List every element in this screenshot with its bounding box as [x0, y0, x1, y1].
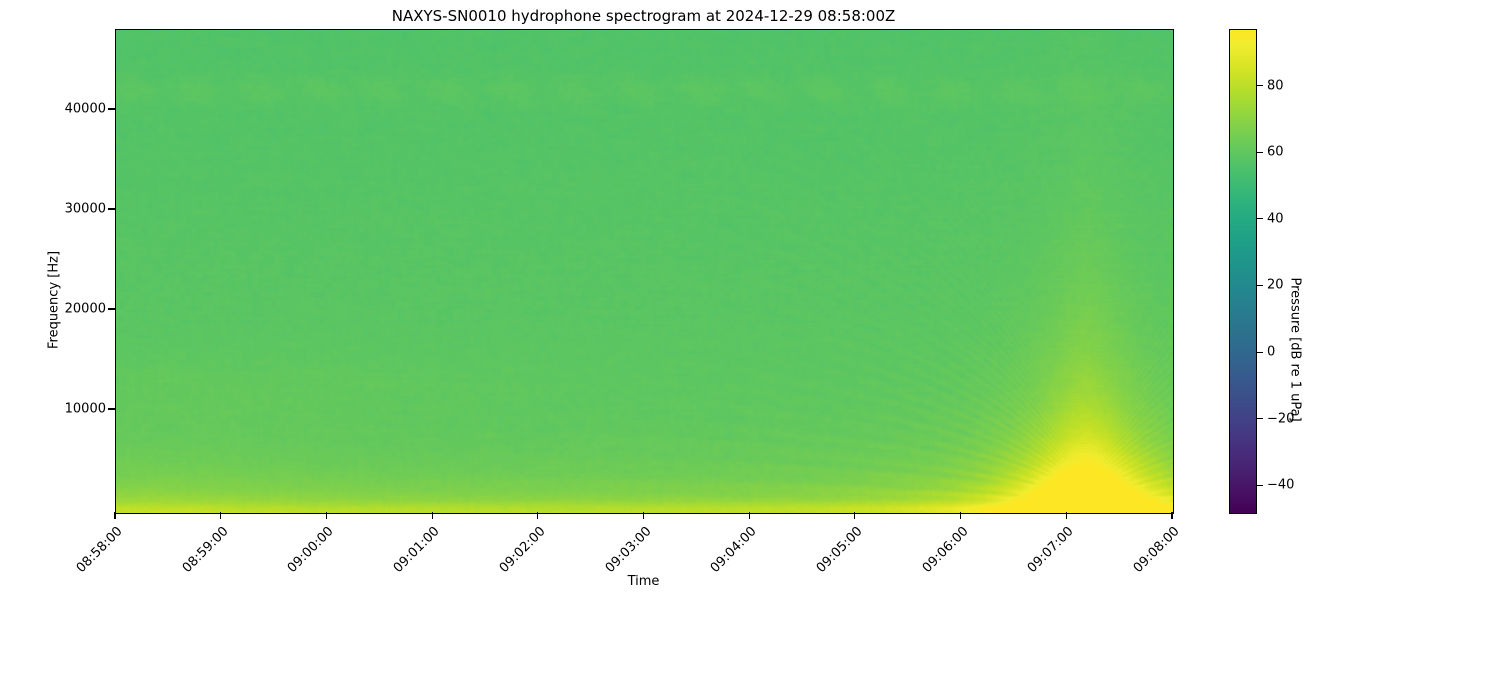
colorbar-tick-mark: [1257, 485, 1263, 486]
spectrogram-plot-area: [115, 29, 1174, 514]
x-axis-tick-mark: [537, 512, 538, 519]
x-axis-tick-mark: [854, 512, 855, 519]
colorbar-tick-mark: [1257, 218, 1263, 219]
y-axis-tick-label: 30000: [65, 202, 106, 217]
y-axis-tick-mark: [108, 108, 115, 109]
colorbar-label: Pressure [dB re 1 uPa]: [1288, 278, 1303, 422]
x-axis-tick-mark: [643, 512, 644, 519]
colorbar-tick-mark: [1257, 85, 1263, 86]
x-axis-label: Time: [115, 574, 1172, 589]
x-axis-tick-mark: [749, 512, 750, 519]
y-axis-tick-mark: [108, 308, 115, 309]
y-axis-tick-mark: [108, 408, 115, 409]
x-axis-tick-mark: [114, 512, 115, 519]
colorbar-tick-label: −40: [1267, 478, 1294, 493]
y-axis-tick-mark: [108, 208, 115, 209]
x-axis-tick-mark: [1066, 512, 1067, 519]
y-axis-label: Frequency [Hz]: [47, 251, 62, 349]
colorbar: [1229, 29, 1257, 514]
colorbar-tick-label: 60: [1267, 145, 1284, 160]
colorbar-tick-mark: [1257, 352, 1263, 353]
y-axis-tick-label: 20000: [65, 302, 106, 317]
x-axis-tick-mark: [960, 512, 961, 519]
colorbar-tick-mark: [1257, 285, 1263, 286]
colorbar-gradient: [1230, 30, 1256, 513]
x-axis-tick-mark: [432, 512, 433, 519]
spectrogram-figure: NAXYS-SN0010 hydrophone spectrogram at 2…: [0, 0, 1500, 600]
colorbar-tick-label: 0: [1267, 345, 1275, 360]
page-title: NAXYS-SN0010 hydrophone spectrogram at 2…: [115, 7, 1172, 25]
spectrogram-image: [116, 30, 1173, 513]
colorbar-tick-label: 20: [1267, 278, 1284, 293]
colorbar-tick-label: 40: [1267, 211, 1284, 226]
x-axis-tick-mark: [1171, 512, 1172, 519]
x-axis-tick-mark: [220, 512, 221, 519]
y-axis-tick-label: 40000: [65, 102, 106, 117]
y-axis-tick-label: 10000: [65, 402, 106, 417]
colorbar-tick-mark: [1257, 418, 1263, 419]
x-axis-tick-mark: [326, 512, 327, 519]
colorbar-tick-mark: [1257, 152, 1263, 153]
colorbar-tick-label: 80: [1267, 78, 1284, 93]
